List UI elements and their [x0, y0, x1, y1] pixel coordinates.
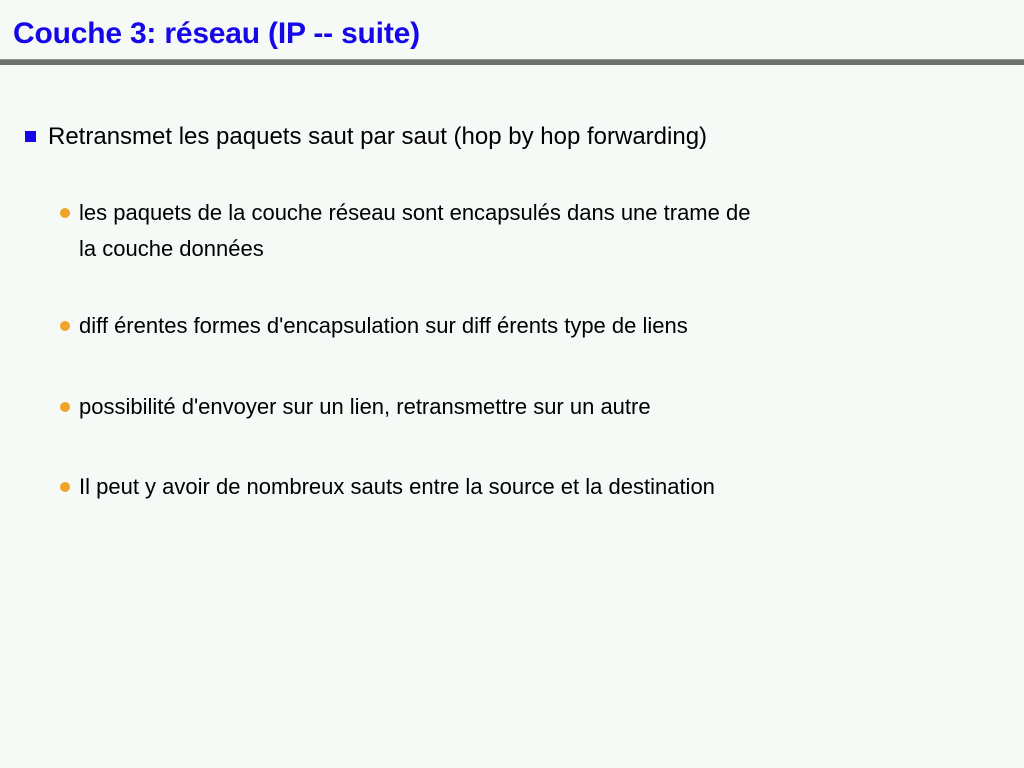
- round-bullet-icon: [60, 321, 70, 331]
- bullet-level1: Retransmet les paquets saut par saut (ho…: [0, 122, 1024, 152]
- bullet-level2-2-line1: diff érentes formes d'encapsulation sur …: [79, 308, 969, 344]
- bullet-level2-3: possibilité d'envoyer sur un lien, retra…: [0, 389, 1024, 425]
- slide-canvas: Couche 3: réseau (IP -- suite) Retransme…: [0, 0, 1024, 768]
- bullet-level2-1-line2: la couche données: [79, 231, 969, 267]
- round-bullet-icon: [60, 482, 70, 492]
- slide-body: Retransmet les paquets saut par saut (ho…: [0, 78, 1024, 505]
- bullet-level2-1: les paquets de la couche réseau sont enc…: [0, 195, 1024, 267]
- bullet-level2-1-line1: les paquets de la couche réseau sont enc…: [79, 195, 969, 231]
- round-bullet-icon: [60, 402, 70, 412]
- bullet-level2-4: Il peut y avoir de nombreux sauts entre …: [0, 469, 1024, 505]
- bullet-level2-4-line1: Il peut y avoir de nombreux sauts entre …: [79, 469, 969, 505]
- bullet-level2-3-line1: possibilité d'envoyer sur un lien, retra…: [79, 389, 969, 425]
- bullet-level1-label: Retransmet les paquets saut par saut (ho…: [48, 122, 994, 152]
- round-bullet-icon: [60, 208, 70, 218]
- title-divider: [0, 59, 1024, 65]
- bullet-level2-2: diff érentes formes d'encapsulation sur …: [0, 308, 1024, 344]
- square-bullet-icon: [25, 131, 36, 142]
- page-title: Couche 3: réseau (IP -- suite): [13, 16, 420, 52]
